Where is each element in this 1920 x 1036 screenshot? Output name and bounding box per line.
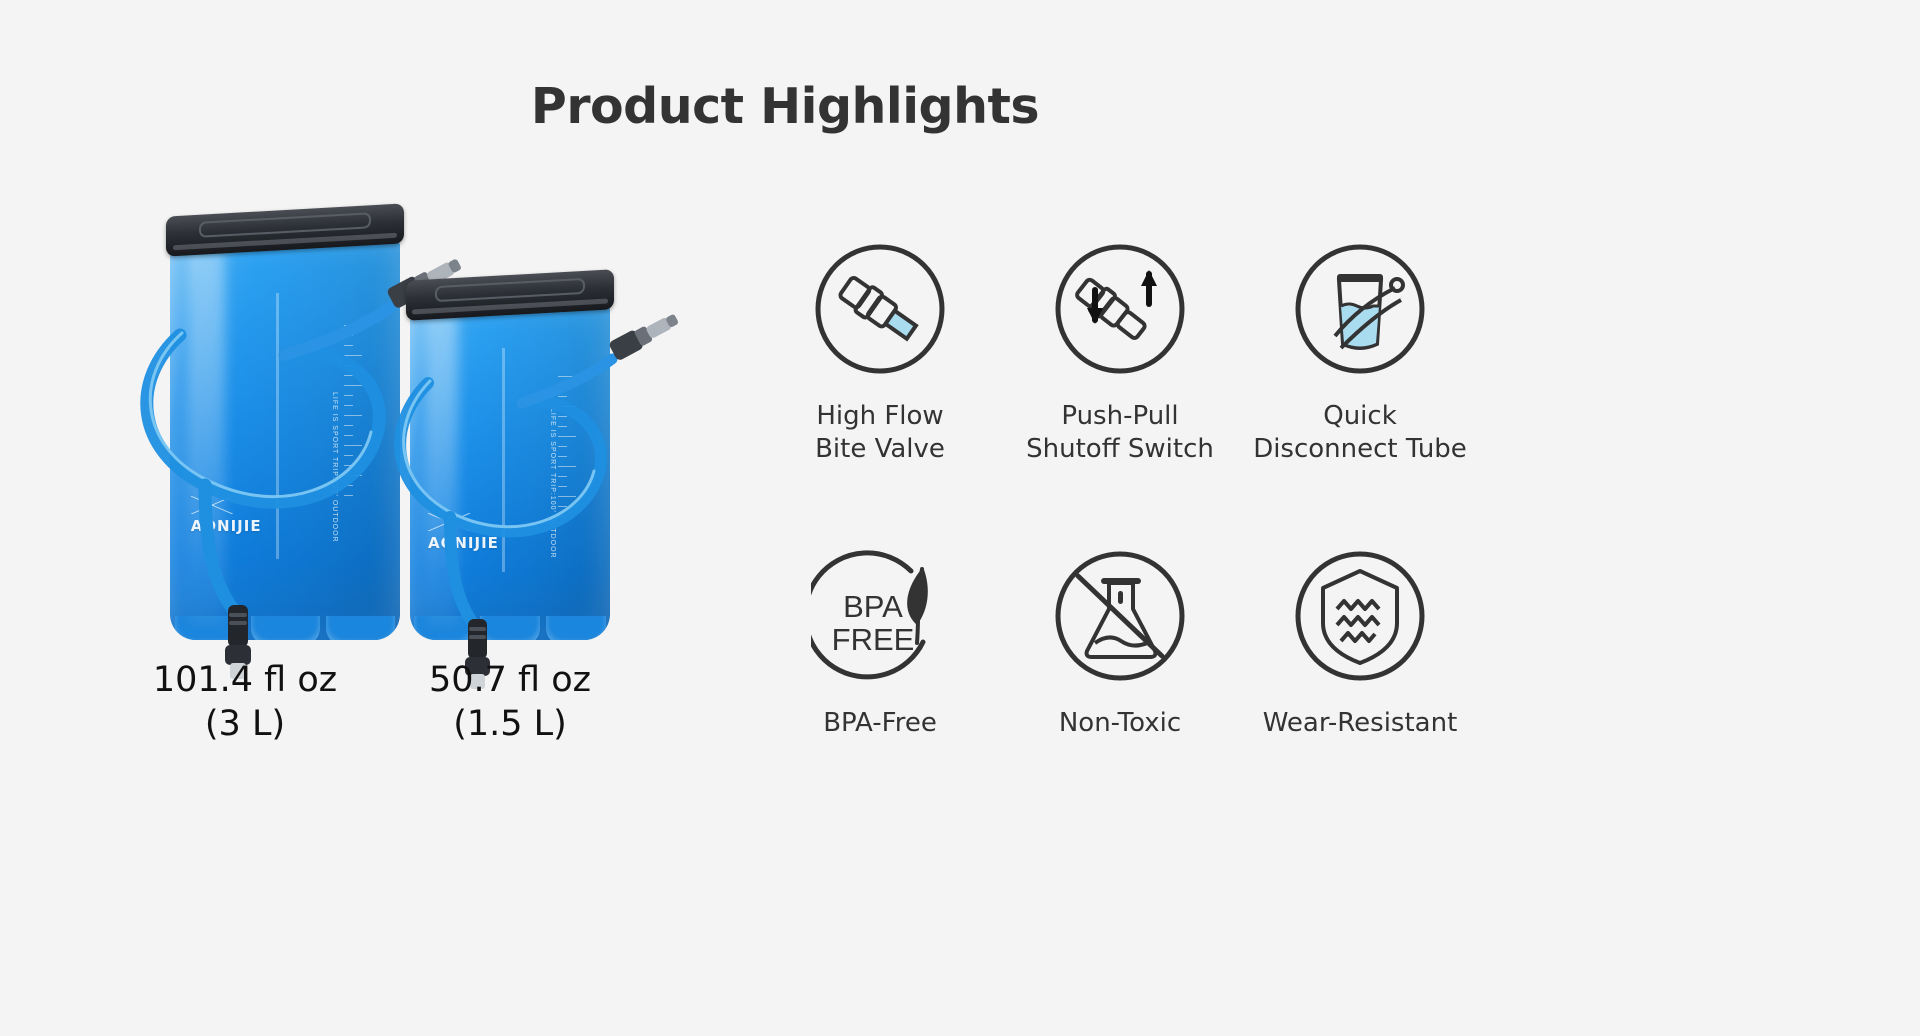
- hydration-tube-1-5l: [350, 255, 690, 675]
- features-row-1: High Flow Bite Valve: [760, 240, 1480, 465]
- feature-label-non-toxic: Non-Toxic: [1000, 707, 1240, 740]
- feature-label-push-pull-shutoff-switch: Push-Pull Shutoff Switch: [1000, 400, 1240, 465]
- feature-label-quick-disconnect-tube: Quick Disconnect Tube: [1240, 400, 1480, 465]
- feature-label-line2: Bite Valve: [760, 433, 1000, 466]
- non-toxic-flask-icon: [1051, 547, 1189, 685]
- capacity-label-1-5l: 50.7 fl oz (1.5 L): [365, 658, 655, 746]
- product-highlights-infographic: Product Highlights AONIJIE LIFE IS SPORT…: [0, 0, 1920, 1036]
- feature-non-toxic: Non-Toxic: [1000, 547, 1240, 740]
- feature-label-line1: Push-Pull: [1061, 401, 1178, 431]
- feature-high-flow-bite-valve: High Flow Bite Valve: [760, 240, 1000, 465]
- capacity-label-3l: 101.4 fl oz (3 L): [85, 658, 405, 746]
- feature-quick-disconnect-tube: Quick Disconnect Tube: [1240, 240, 1480, 465]
- product-images-group: AONIJIE LIFE IS SPORT TRIP:100' OUTDOOR: [120, 190, 740, 790]
- feature-label-line2: Disconnect Tube: [1240, 433, 1480, 466]
- feature-label-line2: Shutoff Switch: [1000, 433, 1240, 466]
- feature-label-bpa-free: BPA-Free: [760, 707, 1000, 740]
- feature-label-line1: Non-Toxic: [1059, 708, 1181, 738]
- quick-disconnect-tube-icon: [1291, 240, 1429, 378]
- feature-label-wear-resistant: Wear-Resistant: [1240, 707, 1480, 740]
- bite-valve-icon: [811, 240, 949, 378]
- page-title: Product Highlights: [0, 78, 1570, 135]
- feature-wear-resistant: Wear-Resistant: [1240, 547, 1480, 740]
- capacity-metric-3l: (3 L): [85, 702, 405, 746]
- feature-label-line1: Quick: [1323, 401, 1397, 431]
- feature-bpa-free: BPA FREE BPA-Free: [760, 547, 1000, 740]
- feature-push-pull-shutoff-switch: Push-Pull Shutoff Switch: [1000, 240, 1240, 465]
- capacity-metric-1-5l: (1.5 L): [365, 702, 655, 746]
- feature-label-line1: Wear-Resistant: [1263, 708, 1458, 738]
- features-grid: High Flow Bite Valve: [760, 240, 1480, 740]
- bpa-text: BPA: [843, 589, 903, 624]
- product-image-1-5l: AONIJIE LIFE IS SPORT TRIP:100' OUTDOOR: [410, 275, 610, 640]
- feature-label-line1: High Flow: [816, 401, 943, 431]
- capacity-imperial-1-5l: 50.7 fl oz: [365, 658, 655, 702]
- capacity-imperial-3l: 101.4 fl oz: [85, 658, 405, 702]
- bpa-free-icon: BPA FREE: [811, 547, 949, 685]
- features-row-2: BPA FREE BPA-Free: [760, 547, 1480, 740]
- feature-label-line1: BPA-Free: [823, 708, 937, 738]
- feature-label-high-flow-bite-valve: High Flow Bite Valve: [760, 400, 1000, 465]
- free-text: FREE: [832, 622, 915, 657]
- wear-resistant-shield-icon: [1291, 547, 1429, 685]
- push-pull-switch-icon: [1051, 240, 1189, 378]
